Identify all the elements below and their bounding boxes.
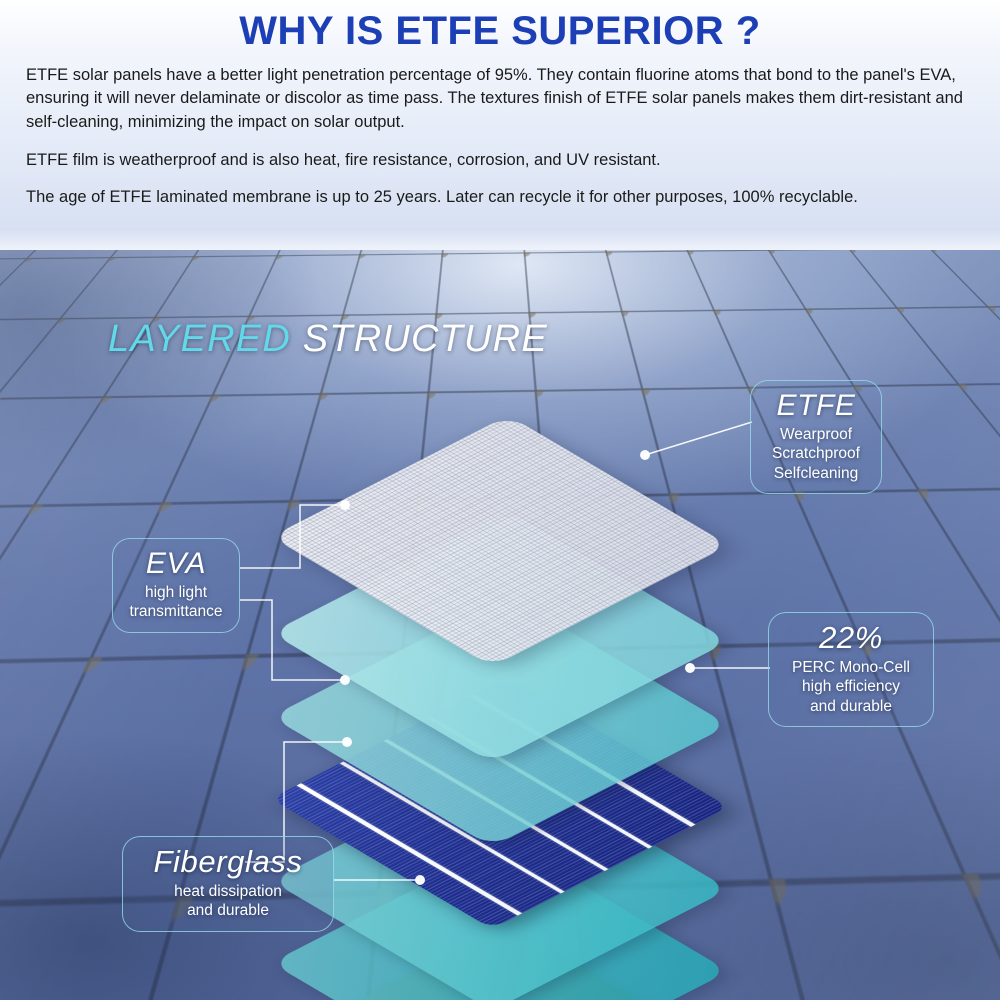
page-title: WHY IS ETFE SUPERIOR ?	[26, 8, 974, 54]
callout-fiber-line2: and durable	[135, 901, 321, 921]
callout-perc-line3: and durable	[781, 697, 921, 717]
callout-etfe-line1: Wearproof	[763, 425, 869, 445]
header-section: WHY IS ETFE SUPERIOR ? ETFE solar panels…	[0, 0, 1000, 250]
callout-fiber-line1: heat dissipation	[135, 882, 321, 902]
callout-perc-efficiency[interactable]: 22% PERC Mono-Cell high efficiency and d…	[768, 612, 934, 727]
body-paragraph-1: ETFE solar panels have a better light pe…	[26, 64, 974, 134]
callout-etfe-line2: Scratchproof	[763, 444, 869, 464]
body-paragraph-2: ETFE film is weatherproof and is also he…	[26, 149, 974, 172]
callout-etfe[interactable]: ETFE Wearproof Scratchproof Selfcleaning	[750, 380, 882, 494]
callout-eva-title: EVA	[125, 547, 227, 581]
callout-fiberglass[interactable]: Fiberglass heat dissipation and durable	[122, 836, 334, 932]
callout-etfe-title: ETFE	[763, 389, 869, 423]
callout-eva-line2: transmittance	[125, 602, 227, 622]
layered-structure-heading: LAYERED STRUCTURE	[108, 318, 548, 361]
infographic-page: WHY IS ETFE SUPERIOR ? ETFE solar panels…	[0, 0, 1000, 1000]
callout-perc-line2: high efficiency	[781, 677, 921, 697]
callout-eva-line1: high light	[125, 583, 227, 603]
heading-structure: STRUCTURE	[291, 318, 548, 360]
callout-eva[interactable]: EVA high light transmittance	[112, 538, 240, 633]
callout-perc-title: 22%	[781, 621, 921, 656]
body-paragraph-3: The age of ETFE laminated membrane is up…	[26, 186, 974, 209]
callout-fiber-title: Fiberglass	[135, 845, 321, 880]
heading-layered: LAYERED	[108, 318, 291, 360]
callout-etfe-line3: Selfcleaning	[763, 464, 869, 484]
callout-perc-line1: PERC Mono-Cell	[781, 658, 921, 678]
